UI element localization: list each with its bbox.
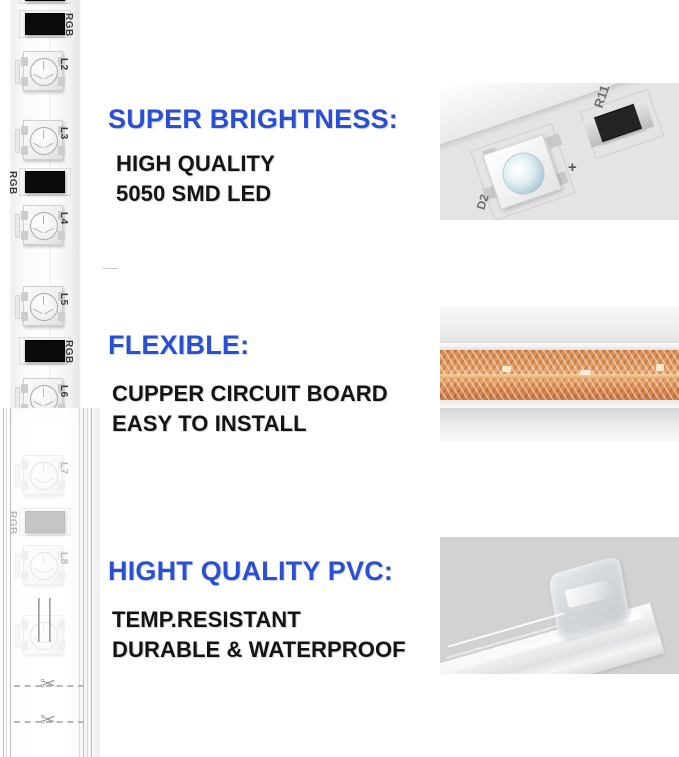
silkscreen-label-d2: D2 xyxy=(474,193,492,212)
led-chip xyxy=(23,455,63,495)
led-pcb-macro-photo: R11 D2 + xyxy=(440,83,679,220)
rgb-driver-chip xyxy=(25,511,65,533)
led-notch xyxy=(15,624,20,648)
led-notch xyxy=(15,464,20,488)
feature-line: DURABLE & WATERPROOF xyxy=(108,635,438,665)
rgb-driver-chip xyxy=(25,340,65,362)
sleeve-ridge xyxy=(79,408,80,757)
highlight-speck xyxy=(580,370,591,375)
feature-line: EASY TO INSTALL xyxy=(108,409,438,439)
solder-pad xyxy=(546,133,562,149)
strip-label-rgb: RGB xyxy=(63,13,74,37)
copper-circuit-board-photo xyxy=(440,307,679,444)
strip-label-rgb: RGB xyxy=(63,340,74,364)
led-notch xyxy=(15,554,20,578)
strip-label-rgb: RGB xyxy=(7,171,18,195)
rgb-driver-chip xyxy=(25,171,65,193)
strip-label-l6: L6 xyxy=(58,385,69,398)
led-chip xyxy=(23,120,63,160)
feature-heading: FLEXIBLE: xyxy=(108,330,438,361)
feature-line: TEMP.RESISTANT xyxy=(108,605,438,635)
led-chip xyxy=(23,51,63,91)
led-notch xyxy=(15,295,20,319)
led-chip xyxy=(23,545,63,585)
feature-line: 5050 SMD LED xyxy=(108,179,438,209)
strip-label-l3: L3 xyxy=(58,127,69,140)
rgb-driver-chip xyxy=(25,0,65,1)
cut-mark: ✂ xyxy=(14,675,84,697)
pvc-sleeve-tip-photo xyxy=(440,537,679,674)
feature-heading: SUPER BRIGHTNESS: xyxy=(108,104,438,135)
sleeve-ridge xyxy=(3,408,4,757)
highlight-speck xyxy=(502,366,511,372)
led-notch xyxy=(15,129,20,153)
sleeve-ridge xyxy=(10,408,11,757)
divider-tick xyxy=(103,268,118,269)
solder-wire xyxy=(38,598,40,642)
led-chip xyxy=(23,286,63,326)
pvc-upper-wall xyxy=(440,307,679,345)
strip-label-l8: L8 xyxy=(58,552,69,565)
feature-line: CUPPER CIRCUIT BOARD xyxy=(108,379,438,409)
strip-label-l4: L4 xyxy=(58,212,69,225)
solder-wire xyxy=(49,598,51,642)
scissors-icon: ✂ xyxy=(40,710,56,732)
led-notch xyxy=(15,214,20,238)
sleeve-ridge xyxy=(91,408,92,757)
pvc-lower-wall xyxy=(440,408,679,444)
polarity-plus-label: + xyxy=(568,159,577,176)
strip-label-l5: L5 xyxy=(58,293,69,306)
rgb-driver-chip xyxy=(25,13,65,35)
strip-label-l2: L2 xyxy=(58,58,69,71)
feature-block-flexible: FLEXIBLE: CUPPER CIRCUIT BOARD EASY TO I… xyxy=(108,330,438,439)
sleeve-ridge xyxy=(87,408,88,757)
cut-mark: ✂ xyxy=(14,711,84,733)
feature-line: HIGH QUALITY xyxy=(108,149,438,179)
feature-heading: HIGHT QUALITY PVC: xyxy=(108,556,438,587)
sleeve-ridge xyxy=(83,408,84,757)
led-notch xyxy=(15,60,20,84)
copper-core-line xyxy=(440,374,679,379)
highlight-speck xyxy=(656,364,664,371)
led-strip-schematic: RGB L2 L3 RGB L4 L5 RGB xyxy=(0,0,100,757)
led-chip xyxy=(23,205,63,245)
led-chip xyxy=(23,615,63,655)
scissors-icon: ✂ xyxy=(40,674,56,696)
strip-label-rgb: RGB xyxy=(7,511,18,535)
feature-block-pvc: HIGHT QUALITY PVC: TEMP.RESISTANT DURABL… xyxy=(108,556,438,665)
copper-braid-layer xyxy=(440,350,679,402)
sleeve-ridge xyxy=(6,408,7,757)
strip-label-l7: L7 xyxy=(58,462,69,475)
feature-block-super-brightness: SUPER BRIGHTNESS: HIGH QUALITY 5050 SMD … xyxy=(108,104,438,209)
